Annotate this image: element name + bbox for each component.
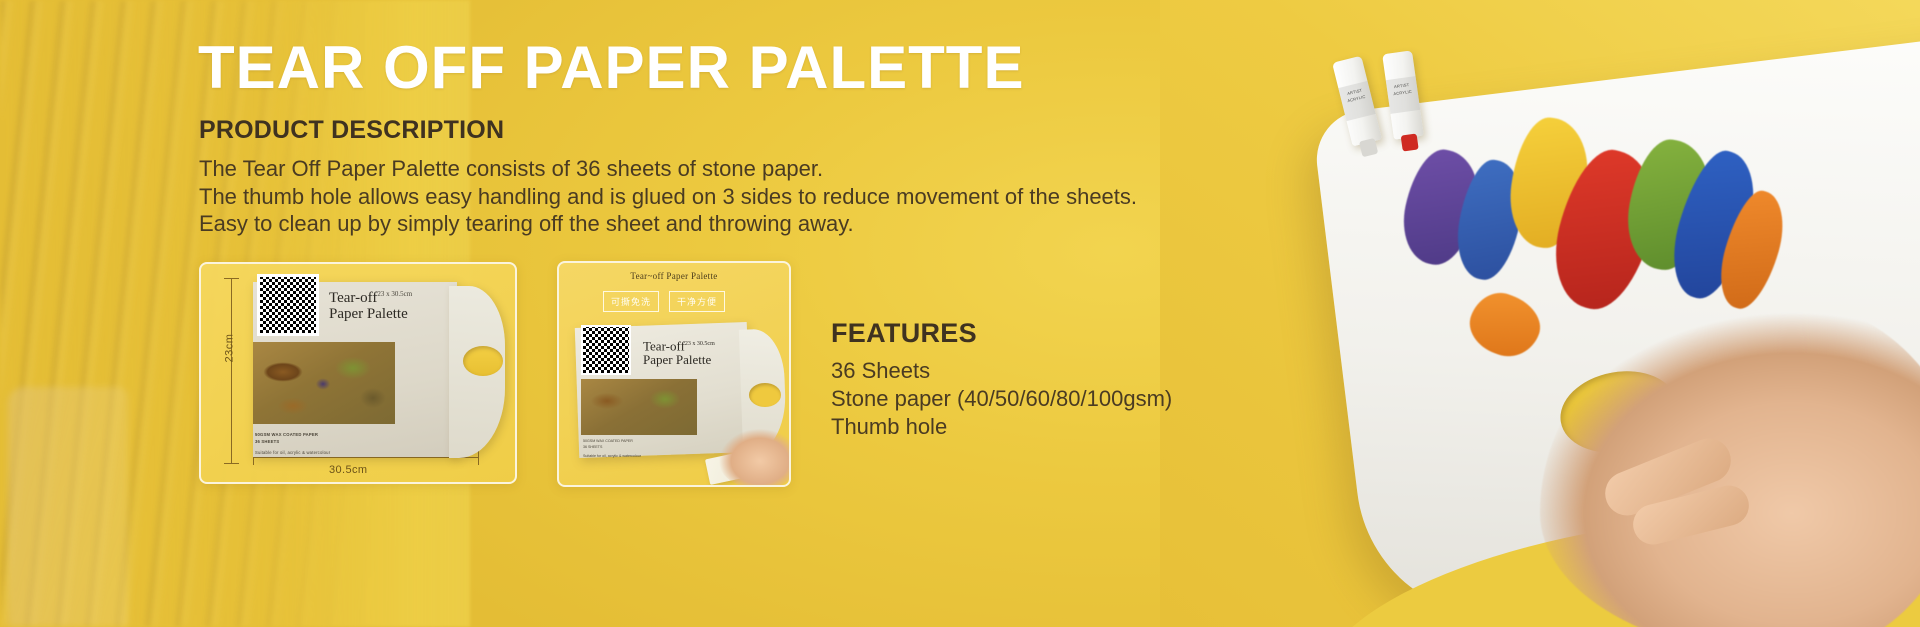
page-title: TEAR OFF PAPER PALETTE xyxy=(198,36,1024,99)
package-artwork xyxy=(253,342,395,424)
package-specs: 50GSM WAX COATED PAPER 36 SHEETS Suitabl… xyxy=(255,432,395,457)
description-line-3: Easy to clean up by simply tearing off t… xyxy=(199,210,1137,238)
card2-tag-2: 干净方便 xyxy=(669,291,725,312)
card2-qr-code-icon xyxy=(581,325,631,375)
card2-package-title: Tear-off23 x 30.5cm Paper Palette xyxy=(643,337,715,367)
qr-code-icon xyxy=(257,274,319,336)
banner-content: TEAR OFF PAPER PALETTE PRODUCT DESCRIPTI… xyxy=(0,0,1920,627)
card2-package-title-line-2: Paper Palette xyxy=(643,352,711,367)
card2-thumb-hole xyxy=(749,383,781,407)
feature-item-3: Thumb hole xyxy=(831,413,1172,441)
width-dimension-line xyxy=(253,457,479,458)
package-spec-line-3: Suitable for oil, acrylic & watercolour xyxy=(255,450,395,457)
card2-tag-1: 可撕免洗 xyxy=(603,291,659,312)
product-banner: ARTIST ACRYLIC ARTIST ACRYLIC TEAR OFF P… xyxy=(0,0,1920,627)
product-description-text: The Tear Off Paper Palette consists of 3… xyxy=(199,155,1137,238)
product-image-card-1[interactable]: 23cm 30.5cm Tear-off23 x 30.5cm Paper Pa… xyxy=(199,262,517,484)
package-thumb-hole xyxy=(463,346,503,376)
height-dimension-label: 23cm xyxy=(223,334,235,363)
card2-spec-line-3: Suitable for oil, acrylic & watercolour xyxy=(583,454,693,460)
package-size-label: 23 x 30.5cm xyxy=(377,290,412,298)
card2-hand xyxy=(717,427,791,487)
description-line-1: The Tear Off Paper Palette consists of 3… xyxy=(199,155,1137,183)
product-image-card-2[interactable]: Tear~off Paper Palette 可撕免洗 干净方便 Tear-of… xyxy=(557,261,791,487)
card2-package-title-line-1: Tear-off xyxy=(643,338,685,353)
description-line-2: The thumb hole allows easy handling and … xyxy=(199,183,1137,211)
package-title: Tear-off23 x 30.5cm Paper Palette xyxy=(329,286,412,322)
features-list: 36 Sheets Stone paper (40/50/60/80/100gs… xyxy=(831,357,1172,441)
card2-header: Tear~off Paper Palette xyxy=(559,271,789,281)
width-dimension-label: 30.5cm xyxy=(329,464,367,476)
feature-item-1: 36 Sheets xyxy=(831,357,1172,385)
package-title-line-2: Paper Palette xyxy=(329,306,408,322)
card2-package-specs: 50GSM WAX COATED PAPER 36 SHEETS Suitabl… xyxy=(583,439,693,460)
features-heading: FEATURES xyxy=(831,318,977,349)
card2-package-artwork xyxy=(581,379,697,435)
card2-tag-group: 可撕免洗 干净方便 xyxy=(603,291,725,312)
feature-item-2: Stone paper (40/50/60/80/100gsm) xyxy=(831,385,1172,413)
card2-package-size-label: 23 x 30.5cm xyxy=(685,341,715,347)
height-dimension-line xyxy=(231,278,232,464)
product-description-heading: PRODUCT DESCRIPTION xyxy=(199,116,504,145)
package-title-line-1: Tear-off xyxy=(329,290,377,306)
